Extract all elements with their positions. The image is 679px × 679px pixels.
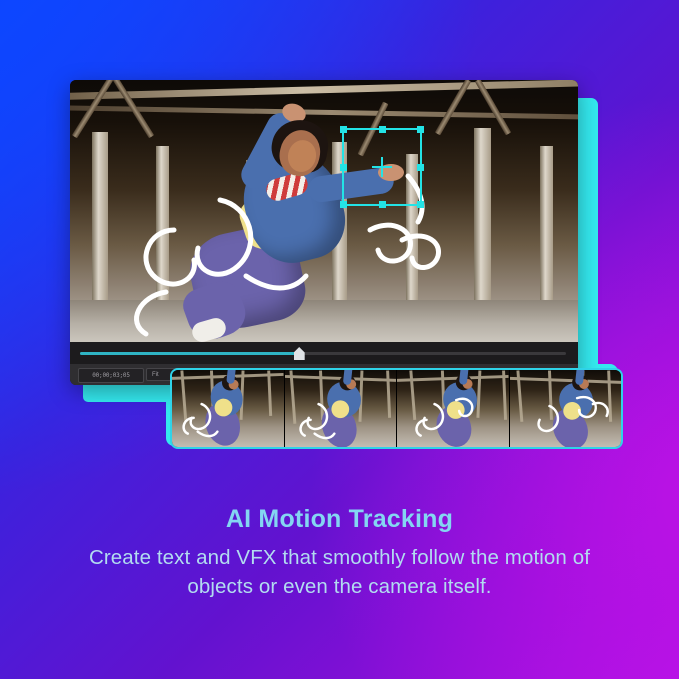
page-subtitle: Create text and VFX that smoothly follow… [0,543,679,601]
filmstrip-frame-thumbnail [397,370,509,447]
filmstrip-frame[interactable] [285,370,398,447]
filmstrip-frame[interactable] [510,370,622,447]
playhead-handle[interactable] [294,347,305,360]
filmstrip-frame-thumbnail [285,370,397,447]
page-title: AI Motion Tracking [0,505,679,534]
tracker-handle-br[interactable] [417,201,424,208]
tracker-handle-bl[interactable] [340,201,347,208]
video-preview-panel[interactable]: 00;00;03;05 Fit [70,80,578,385]
tracker-handle-bottom[interactable] [379,201,386,208]
motion-tracker-box[interactable] [342,128,422,206]
tracker-handle-left[interactable] [340,164,347,171]
scrubber-progress [80,352,299,355]
video-frame[interactable] [70,80,578,342]
promo-card: 00;00;03;05 Fit [0,0,679,679]
filmstrip-frame[interactable] [172,370,285,447]
tracker-crosshair-icon [372,157,392,177]
scrubber-row[interactable] [70,342,578,364]
timecode-field[interactable]: 00;00;03;05 [78,368,144,383]
tracker-handle-tr[interactable] [417,126,424,133]
filmstrip-frame[interactable] [397,370,510,447]
scrubber-track[interactable] [80,352,566,355]
tracker-handle-tl[interactable] [340,126,347,133]
tracker-handle-top[interactable] [379,126,386,133]
filmstrip-frame-thumbnail [510,370,622,447]
filmstrip-frame-thumbnail [172,370,284,447]
zoom-level-label: Fit [152,372,159,378]
caption-block: AI Motion Tracking Create text and VFX t… [0,505,679,601]
tracker-handle-right[interactable] [417,164,424,171]
filmstrip-timeline[interactable] [170,368,623,449]
